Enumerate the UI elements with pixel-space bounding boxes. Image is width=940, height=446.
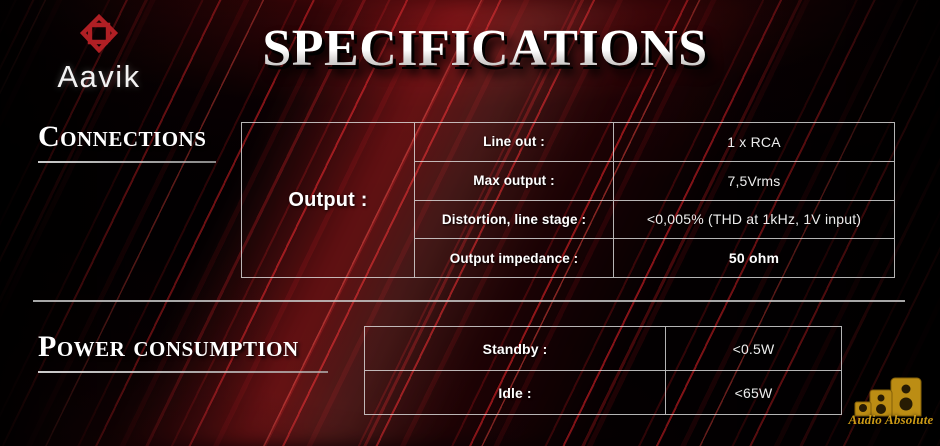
watermark: Audio Absolute (845, 372, 937, 440)
brand-wordmark: Aavik (24, 61, 174, 92)
row-label: Max output : (415, 162, 614, 200)
table-row: Max output : 7,5Vrms (415, 161, 894, 200)
row-label: Standby : (365, 327, 666, 370)
row-value: 50 ohm (614, 239, 894, 277)
brand-logo: Aavik (24, 14, 174, 92)
row-label: Output impedance : (415, 239, 614, 277)
power-rows: Standby : <0.5W Idle : <65W (365, 327, 841, 414)
row-value: 7,5Vrms (614, 162, 894, 200)
row-label: Line out : (415, 123, 614, 161)
section-heading-power-consumption-label: POWER CONSUMPTION (38, 330, 328, 364)
connections-rows: Line out : 1 x RCA Max output : 7,5Vrms … (415, 123, 894, 277)
section-heading-power-consumption: POWER CONSUMPTION (38, 330, 328, 373)
row-value: <0,005% (THD at 1kHz, 1V input) (614, 201, 894, 239)
row-label: Distortion, line stage : (415, 201, 614, 239)
output-group-label: Output : (242, 123, 415, 277)
connections-spec-table: Output : Line out : 1 x RCA Max output :… (241, 122, 895, 278)
row-label: Idle : (365, 371, 666, 414)
row-value: <65W (666, 371, 841, 414)
section-divider (33, 300, 905, 302)
section-heading-connections-label: CONNECTIONS (38, 120, 216, 154)
page-title: SPECIFICATIONS (250, 23, 720, 75)
section-heading-power-consumption-rule (38, 371, 328, 373)
row-value: <0.5W (666, 327, 841, 370)
table-row: Idle : <65W (365, 370, 841, 414)
table-row: Output impedance : 50 ohm (415, 238, 894, 277)
aavik-diamond-mark-icon (24, 14, 174, 59)
table-row: Line out : 1 x RCA (415, 123, 894, 161)
power-consumption-spec-table: Standby : <0.5W Idle : <65W (364, 326, 842, 415)
section-heading-connections-rule (38, 161, 216, 163)
specifications-slide: Aavik SPECIFICATIONS CONNECTIONS Output … (0, 0, 940, 446)
section-heading-connections: CONNECTIONS (38, 120, 216, 163)
table-row: Distortion, line stage : <0,005% (THD at… (415, 200, 894, 239)
table-row: Standby : <0.5W (365, 327, 841, 370)
watermark-text: Audio Absolute (845, 412, 937, 428)
row-value: 1 x RCA (614, 123, 894, 161)
